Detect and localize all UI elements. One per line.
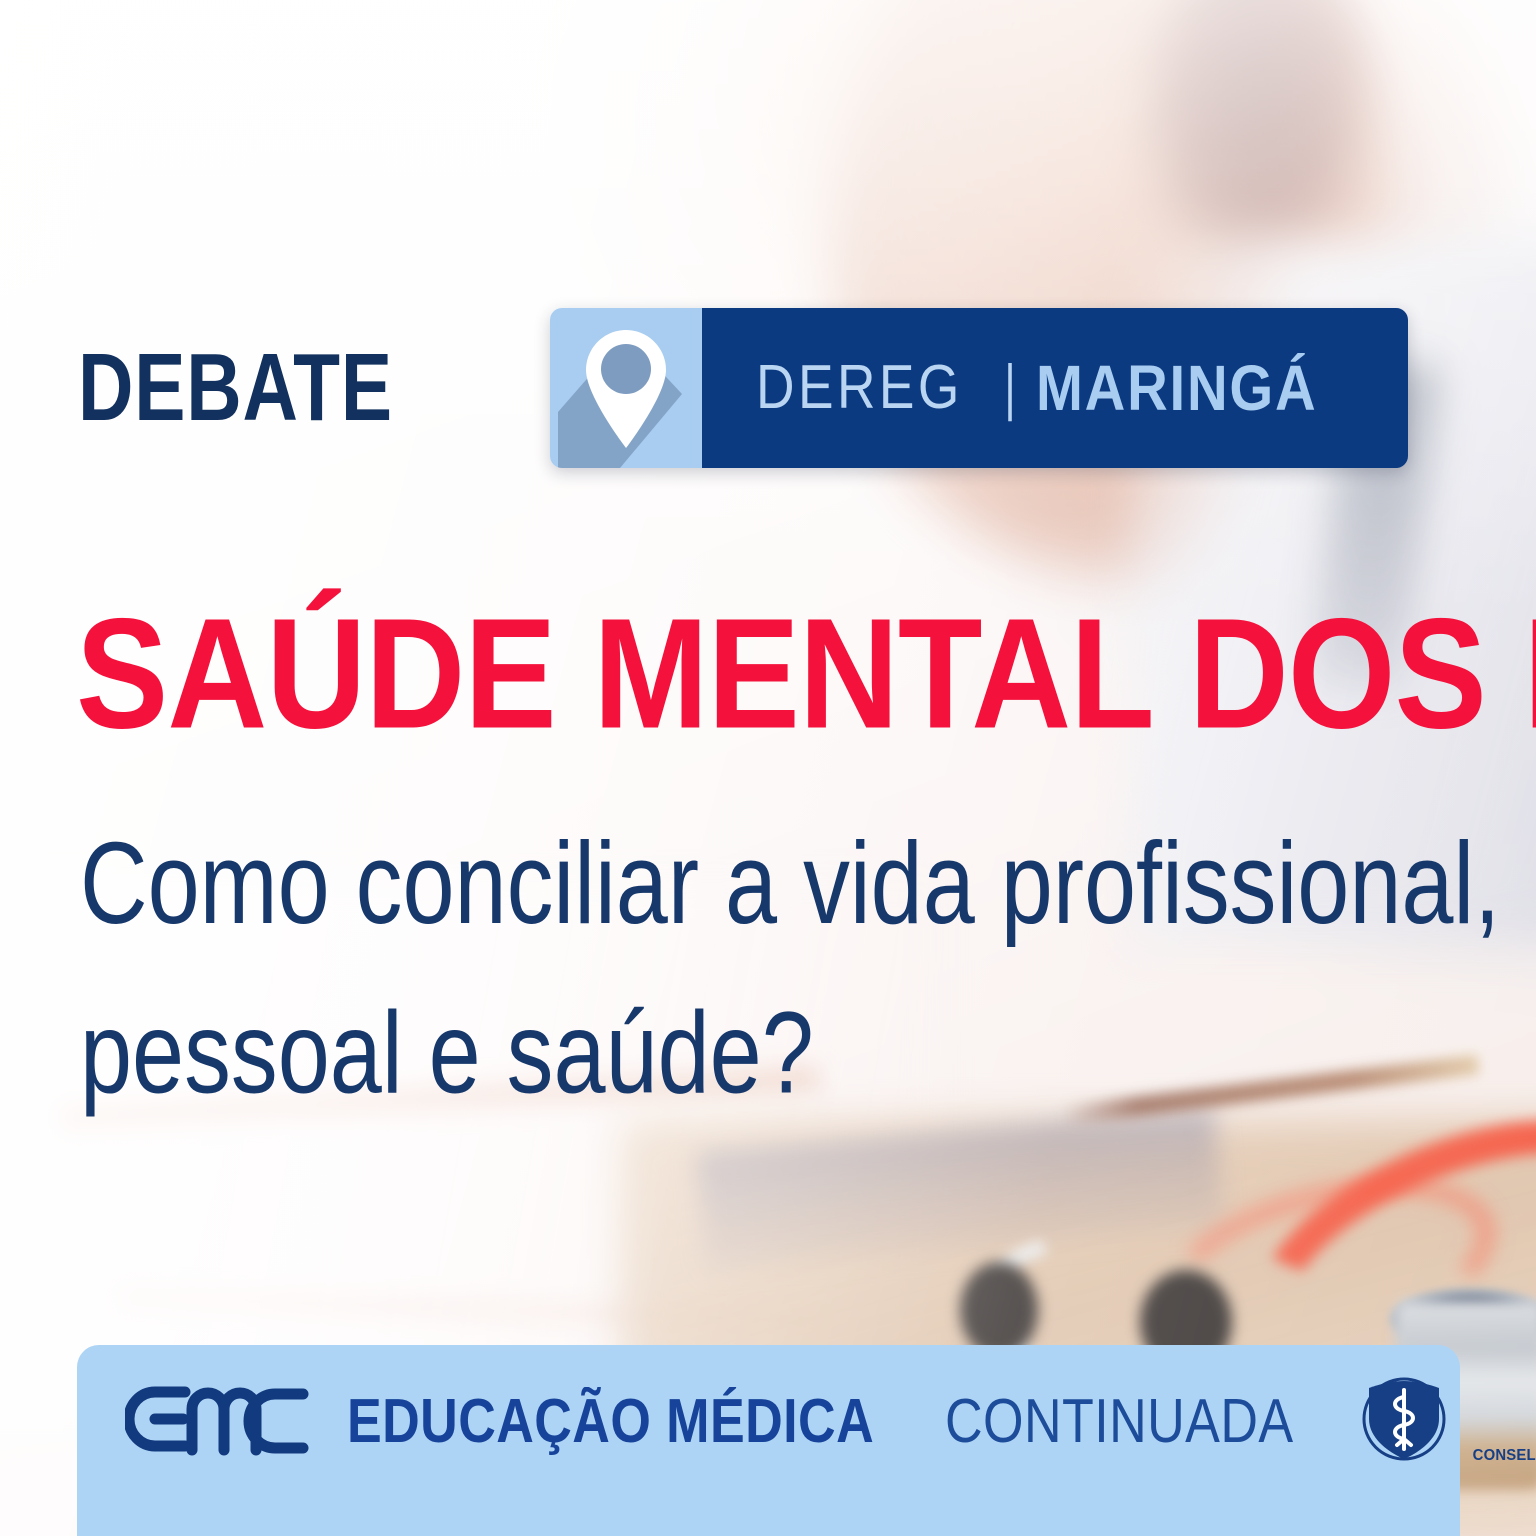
location-badge: DEREG | MARINGÁ xyxy=(550,308,1408,468)
subtitle: Como conciliar a vida profissional, pess… xyxy=(80,800,1250,1138)
crm-pr-tagline: CONSELHO REGIONAL DE MEDICINA DO ESTADO … xyxy=(1473,1447,1536,1465)
asclepius-shield-icon xyxy=(1359,1373,1449,1470)
emc-name-bold: EDUCAÇÃO MÉDICA xyxy=(347,1386,874,1457)
emc-logo-icon xyxy=(125,1382,313,1461)
crm-pr-logo: CRM-PR CONSELHO REGIONAL DE MEDICINA DO … xyxy=(1359,1373,1536,1470)
badge-region-label: DEREG xyxy=(756,352,963,423)
page-title: SAÚDE MENTAL DOS MÉDICOS xyxy=(76,596,1536,753)
emc-wordmark: EDUCAÇÃO MÉDICA CONTINUADA xyxy=(347,1386,1359,1457)
badge-city-label: MARINGÁ xyxy=(1036,351,1317,425)
emc-name-light: CONTINUADA xyxy=(945,1386,1294,1457)
kicker-debate: DEBATE xyxy=(78,340,393,436)
subtitle-line-2: pessoal e saúde? xyxy=(80,969,1250,1138)
header-row: DEBATE DEREG | MARINGÁ xyxy=(78,300,1408,475)
poster-canvas: DEBATE DEREG | MARINGÁ xyxy=(0,0,1536,1536)
footer-logo-bar: EDUCAÇÃO MÉDICA CONTINUADA xyxy=(77,1345,1460,1536)
badge-text: DEREG | MARINGÁ xyxy=(702,308,1408,468)
map-pin-icon xyxy=(550,308,702,468)
subtitle-line-1: Como conciliar a vida profissional, xyxy=(80,800,1250,969)
badge-separator: | xyxy=(1004,352,1015,423)
